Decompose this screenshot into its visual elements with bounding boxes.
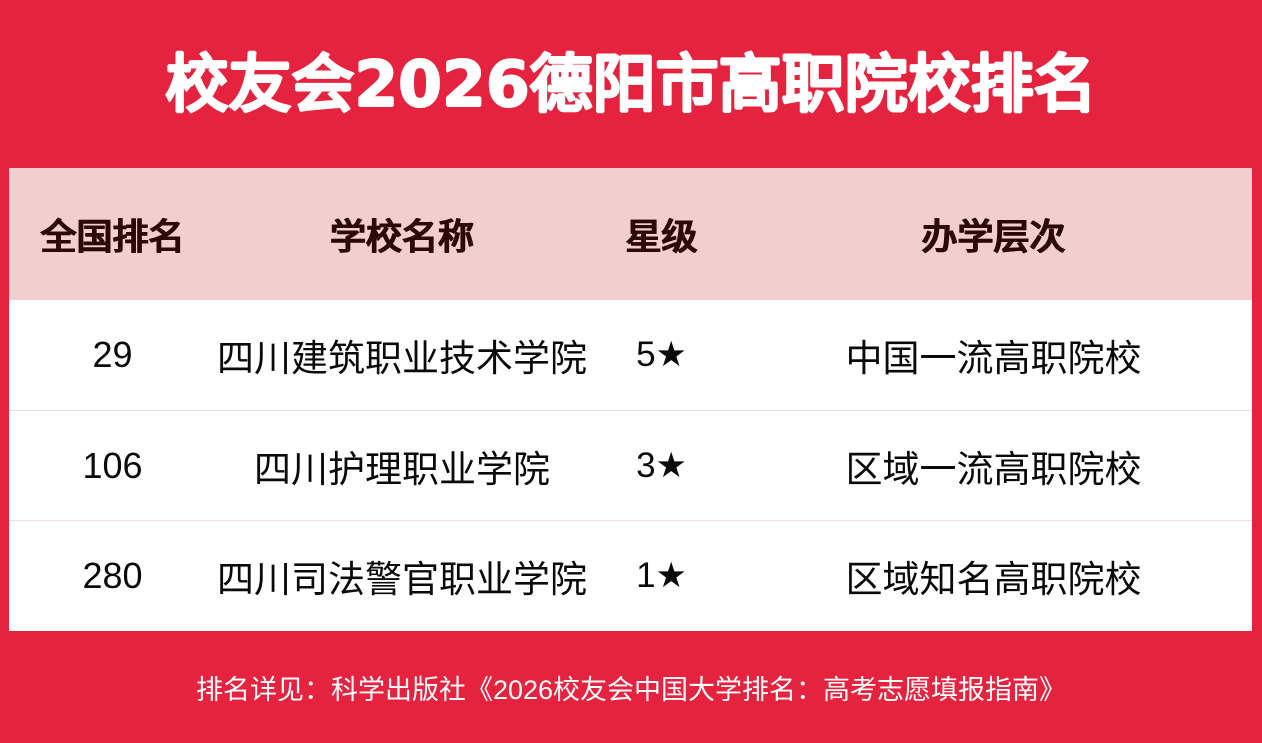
cell-national-rank: 29 bbox=[9, 334, 216, 376]
table-row: 29 四川建筑职业技术学院 5★ 中国一流高职院校 bbox=[9, 300, 1252, 411]
cell-national-rank: 280 bbox=[9, 555, 216, 597]
footer-banner: 排名详见：科学出版社《2026校友会中国大学排名：高考志愿填报指南》 bbox=[0, 631, 1262, 743]
title-banner: 校友会2026德阳市高职院校排名 bbox=[0, 0, 1262, 168]
cell-school-name: 四川护理职业学院 bbox=[216, 439, 588, 493]
column-header-school-name: 学校名称 bbox=[216, 208, 588, 260]
table-row: 280 四川司法警官职业学院 1★ 区域知名高职院校 bbox=[9, 521, 1252, 631]
cell-school-name: 四川建筑职业技术学院 bbox=[216, 328, 588, 382]
cell-star-rating: 5★ bbox=[588, 335, 735, 375]
cell-star-rating: 1★ bbox=[588, 556, 735, 596]
table-body: 29 四川建筑职业技术学院 5★ 中国一流高职院校 106 四川护理职业学院 3… bbox=[9, 300, 1252, 631]
table-header-row: 全国排名 学校名称 星级 办学层次 bbox=[9, 168, 1252, 300]
cell-star-rating: 3★ bbox=[588, 446, 735, 486]
ranking-poster: 校友会2026德阳市高职院校排名 全国排名 学校名称 星级 办学层次 29 四川… bbox=[0, 0, 1262, 743]
cell-school-level: 区域一流高职院校 bbox=[735, 439, 1252, 493]
cell-national-rank: 106 bbox=[9, 445, 216, 487]
table-row: 106 四川护理职业学院 3★ 区域一流高职院校 bbox=[9, 411, 1252, 522]
ranking-table: 全国排名 学校名称 星级 办学层次 29 四川建筑职业技术学院 5★ 中国一流高… bbox=[9, 168, 1252, 631]
cell-school-name: 四川司法警官职业学院 bbox=[216, 549, 588, 603]
page-title: 校友会2026德阳市高职院校排名 bbox=[165, 53, 1096, 116]
column-header-star-rating: 星级 bbox=[588, 208, 735, 260]
cell-school-level: 区域知名高职院校 bbox=[735, 549, 1252, 603]
column-header-school-level: 办学层次 bbox=[735, 208, 1252, 260]
cell-school-level: 中国一流高职院校 bbox=[735, 328, 1252, 382]
source-note: 排名详见：科学出版社《2026校友会中国大学排名：高考志愿填报指南》 bbox=[196, 668, 1066, 707]
column-header-national-rank: 全国排名 bbox=[9, 208, 216, 260]
